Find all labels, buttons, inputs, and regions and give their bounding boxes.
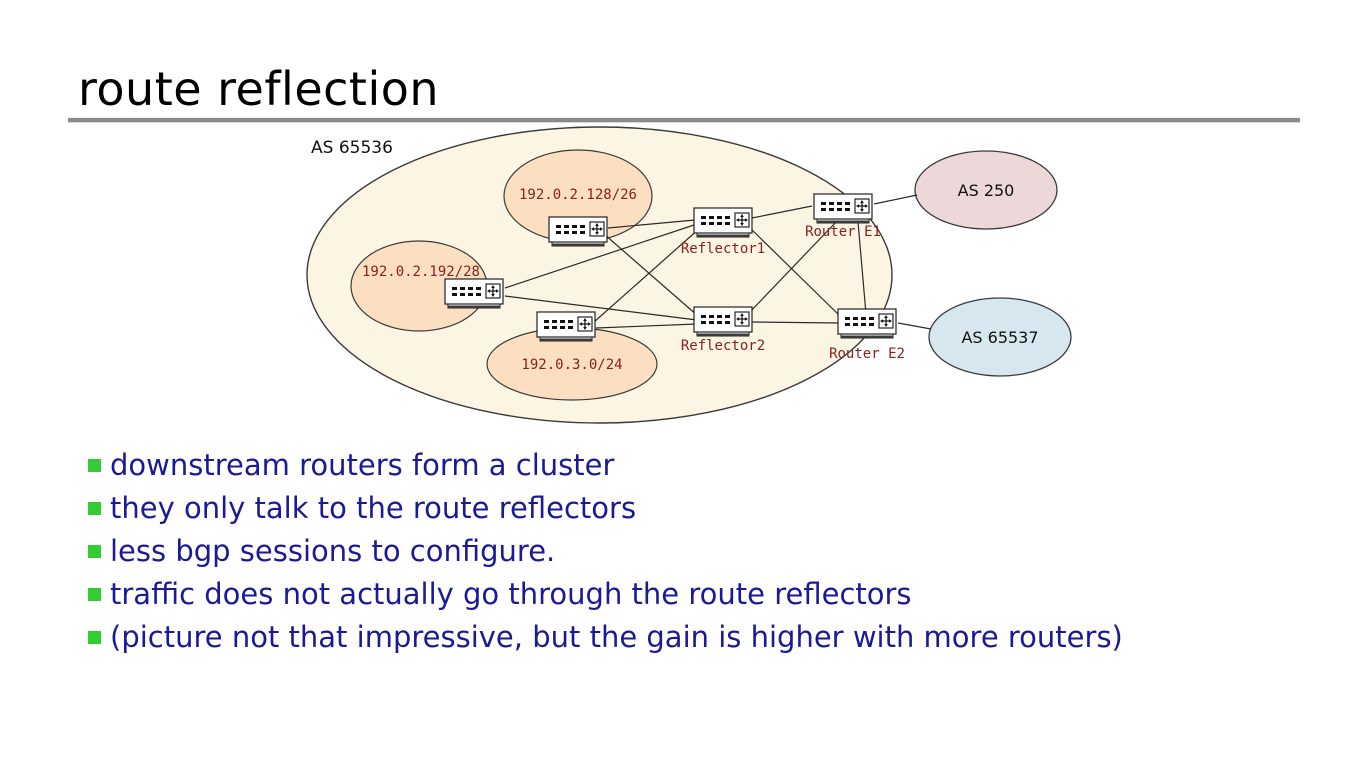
bullet-text: traffic does not actually go through the…: [110, 580, 912, 609]
bullet-item: traffic does not actually go through the…: [88, 573, 1288, 616]
square-bullet-icon: [88, 545, 101, 558]
square-bullet-icon: [88, 459, 101, 472]
bullet-item: downstream routers form a cluster: [88, 444, 1288, 487]
bullet-text: less bgp sessions to configure.: [110, 537, 555, 566]
router-label-reflector2: Reflector2: [681, 338, 765, 354]
bullet-text: they only talk to the route reflectors: [110, 494, 636, 523]
router-label-reflector1: Reflector1: [681, 241, 765, 257]
network-diagram: AS 65536 192.0.2.128/26 192.0.2.192/28 1…: [0, 120, 1366, 450]
bullet-item: they only talk to the route reflectors: [88, 487, 1288, 530]
page-title: route reflection: [78, 62, 439, 116]
router-icon-subnet-a[interactable]: [549, 217, 607, 246]
as-250-label: AS 250: [958, 181, 1015, 200]
network-diagram-svg: AS 65536 192.0.2.128/26 192.0.2.192/28 1…: [0, 120, 1366, 450]
subnet-label-192-0-3-0: 192.0.3.0/24: [521, 357, 622, 373]
bullet-item: less bgp sessions to configure.: [88, 530, 1288, 573]
router-label-router-e1: Router E1: [805, 224, 881, 240]
router-icon-reflector1[interactable]: [694, 208, 752, 237]
router-icon-reflector2[interactable]: [694, 307, 752, 336]
subnet-label-192-0-2-128: 192.0.2.128/26: [519, 187, 637, 203]
router-icon-router-e2[interactable]: [838, 309, 896, 338]
router-icon-subnet-c[interactable]: [537, 312, 595, 341]
router-icon-subnet-b[interactable]: [445, 279, 503, 308]
bullet-text: downstream routers form a cluster: [110, 451, 614, 480]
bullet-item: (picture not that impressive, but the ga…: [88, 616, 1288, 659]
router-label-router-e2: Router E2: [829, 346, 905, 362]
square-bullet-icon: [88, 631, 101, 644]
bullet-text: (picture not that impressive, but the ga…: [110, 623, 1123, 652]
as-65536-label: AS 65536: [311, 138, 393, 158]
bullet-list: downstream routers form a cluster they o…: [88, 444, 1288, 659]
router-icon-router-e1[interactable]: [814, 194, 872, 223]
square-bullet-icon: [88, 588, 101, 601]
subnet-label-192-0-2-192: 192.0.2.192/28: [362, 264, 480, 280]
as-65537-label: AS 65537: [961, 328, 1038, 347]
square-bullet-icon: [88, 502, 101, 515]
